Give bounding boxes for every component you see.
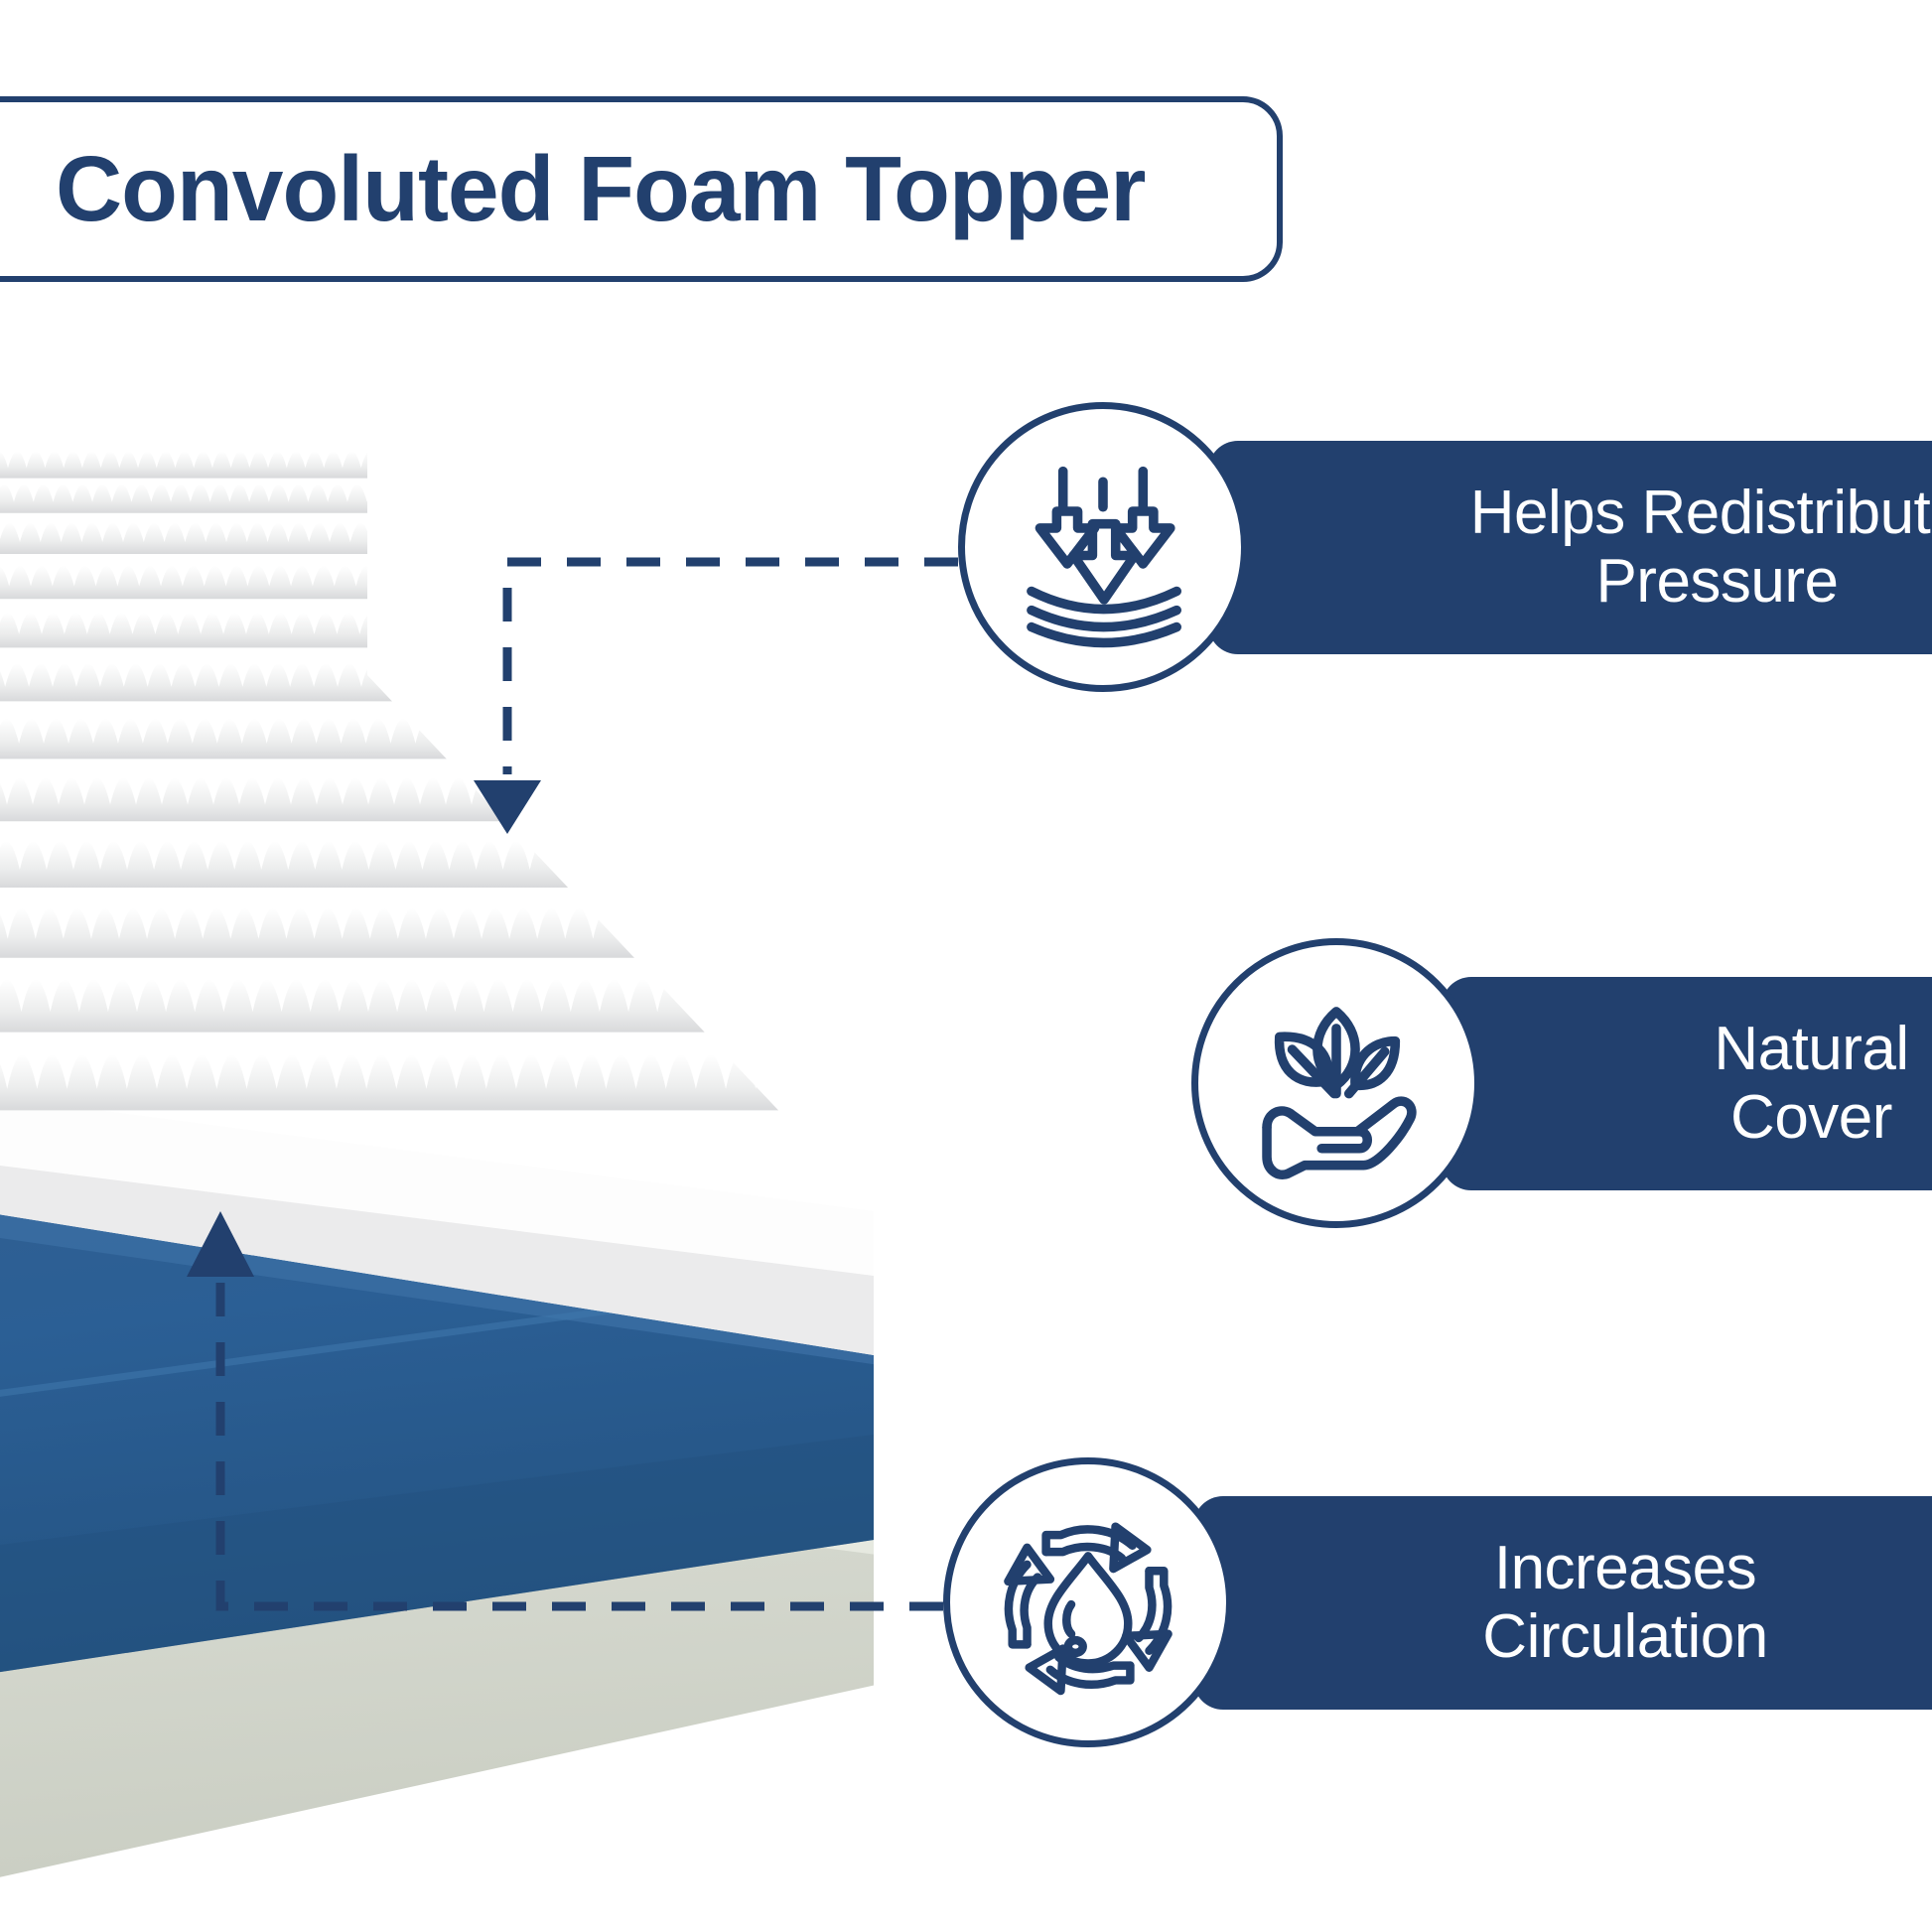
badge-increases-circulation[interactable]: Increases Circulation (943, 1457, 1932, 1747)
page-title-box: Convoluted Foam Topper (0, 96, 1283, 282)
circulation-icon-circle (943, 1457, 1233, 1747)
pressure-label: Helps Redistribute Pressure (1470, 479, 1932, 617)
natural-cover-label-line2: Cover (1730, 1083, 1892, 1152)
natural-cover-icon-circle (1191, 938, 1481, 1228)
circulation-pill[interactable]: Increases Circulation (1193, 1496, 1932, 1710)
pressure-label-line2: Pressure (1595, 547, 1838, 616)
page-title: Convoluted Foam Topper (56, 143, 1145, 235)
infographic-canvas: Convoluted Foam Topper (0, 0, 1932, 1932)
circulation-label: Increases Circulation (1482, 1534, 1767, 1672)
pressure-arrows-icon (998, 442, 1208, 652)
badge-helps-redistribute-pressure[interactable]: Helps Redistribute Pressure (958, 402, 1932, 692)
natural-cover-pill[interactable]: Natural Cover (1442, 977, 1932, 1190)
water-drop-circulation-icon (983, 1497, 1193, 1708)
badge-natural-cover[interactable]: Natural Cover (1191, 938, 1932, 1228)
pressure-icon-circle (958, 402, 1248, 692)
circulation-label-line2: Circulation (1482, 1602, 1767, 1671)
natural-cover-label: Natural Cover (1714, 1015, 1908, 1153)
natural-cover-label-line1: Natural (1714, 1015, 1908, 1083)
circulation-label-line1: Increases (1494, 1534, 1756, 1602)
hand-holding-leaves-icon (1231, 978, 1442, 1188)
pressure-label-line1: Helps Redistribute (1470, 479, 1932, 547)
pressure-pill[interactable]: Helps Redistribute Pressure (1208, 441, 1932, 654)
